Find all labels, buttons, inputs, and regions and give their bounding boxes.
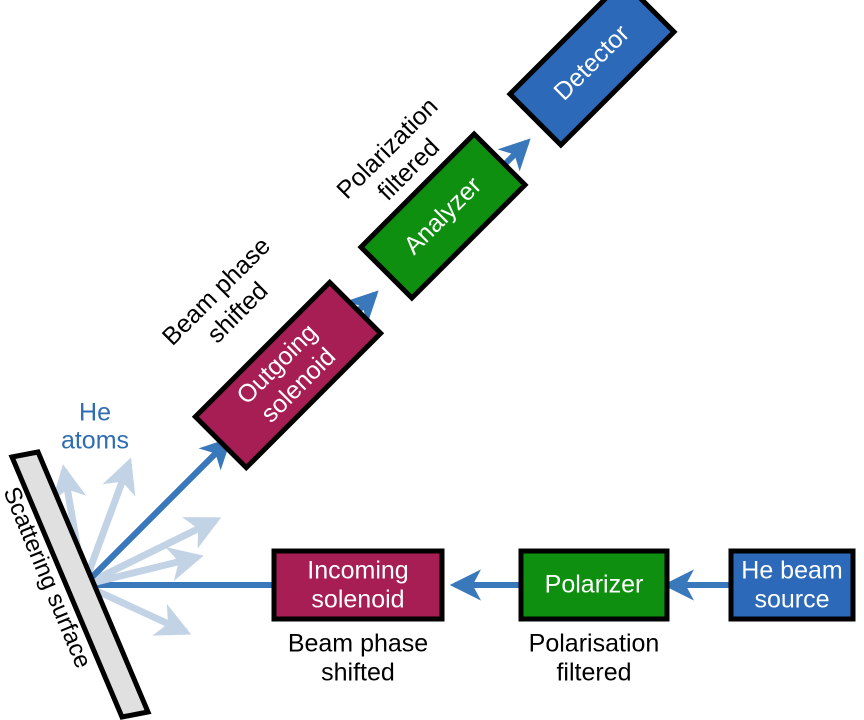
polarizer-caption-line2: filtered — [556, 659, 631, 687]
polarizer-caption-line1: Polarisation — [529, 630, 660, 658]
polarizer-box[interactable]: Polarizer Polarisation filtered — [521, 551, 667, 687]
diagram-canvas: Scattering surface He atoms He beam sour… — [0, 0, 864, 720]
he-atoms-label-line2: atoms — [61, 427, 129, 455]
he-beam-source-box[interactable]: He beam source — [731, 551, 853, 619]
he-atoms-label-line1: He — [79, 399, 111, 427]
incoming-solenoid-box[interactable]: Incoming solenoid Beam phase shifted — [274, 551, 442, 687]
he-atoms-label: He atoms — [61, 399, 129, 455]
he-beam-source-label-line2: source — [754, 586, 829, 614]
incoming-solenoid-label-line2: solenoid — [311, 586, 404, 614]
apparatus-diagram: Scattering surface He atoms He beam sour… — [0, 0, 864, 720]
detector-box[interactable]: Detector — [510, 0, 674, 145]
polarizer-label: Polarizer — [545, 571, 644, 599]
incoming-solenoid-label-line1: Incoming — [307, 557, 408, 585]
incoming-solenoid-caption-line2: shifted — [321, 659, 395, 687]
incoming-solenoid-caption-line1: Beam phase — [288, 630, 428, 658]
he-beam-source-label-line1: He beam — [741, 557, 842, 585]
